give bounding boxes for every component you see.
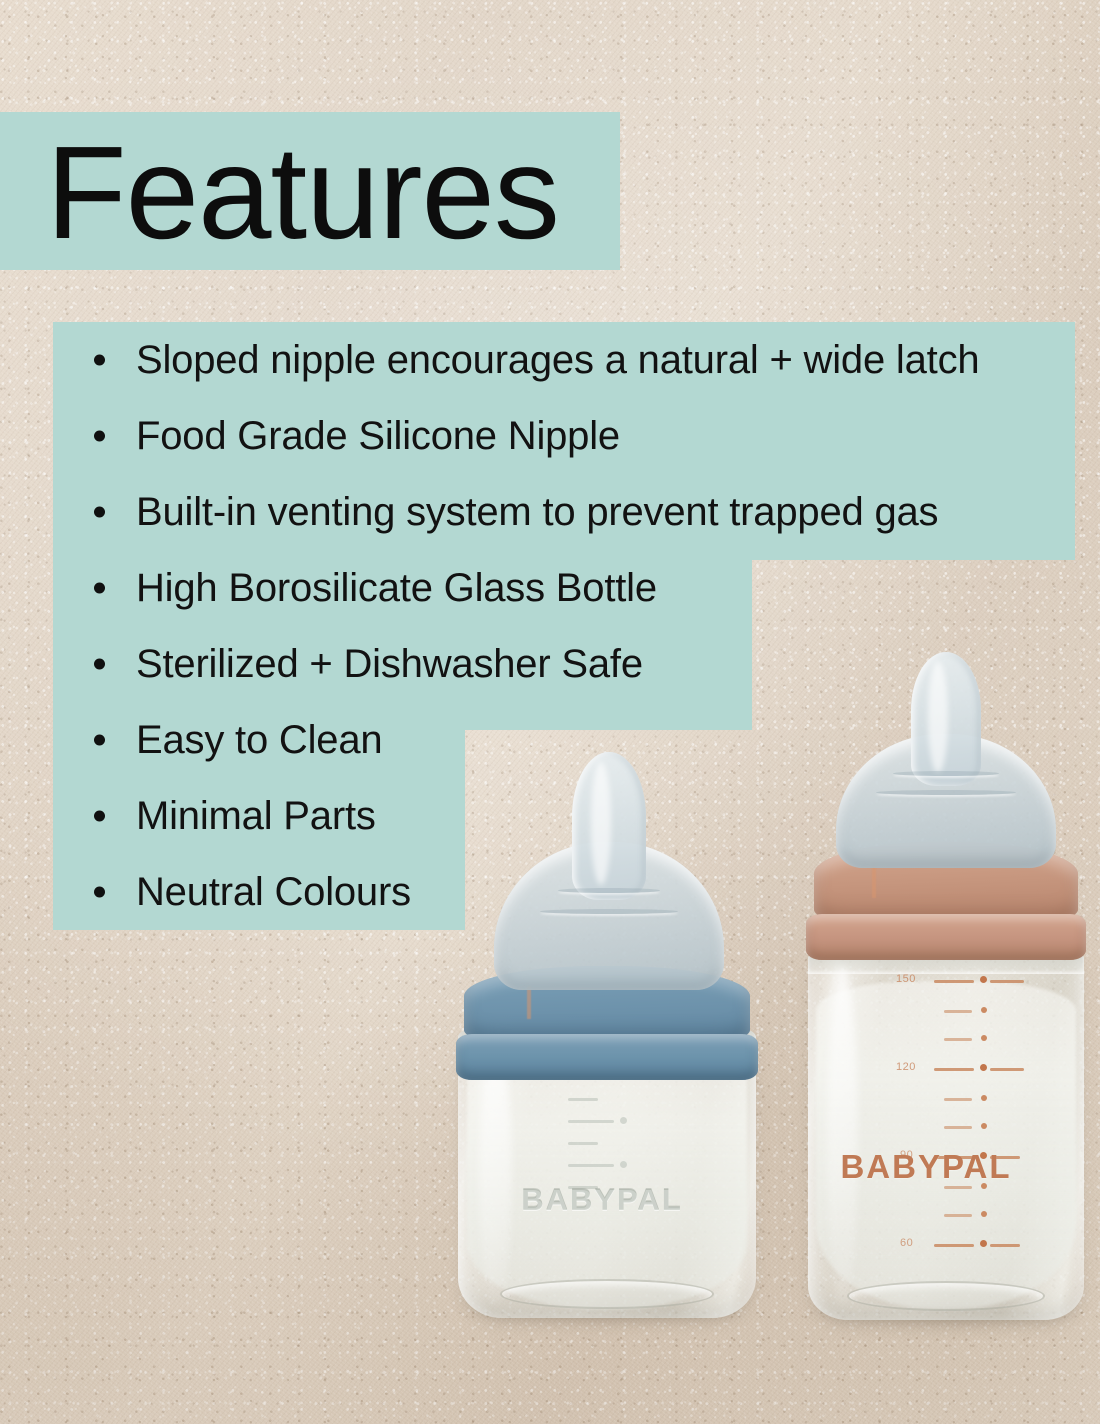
bullet-dot-icon — [94, 355, 105, 366]
list-item-label: Food Grade Silicone Nipple — [136, 413, 620, 459]
scale-label: 150 — [896, 973, 916, 985]
list-item: Food Grade Silicone Nipple — [53, 398, 1083, 474]
blue-bottle-base-ring — [500, 1279, 715, 1309]
blue-collar-seam-mark — [527, 986, 531, 1019]
list-item-label: High Borosilicate Glass Bottle — [136, 565, 657, 611]
bullet-dot-icon — [94, 735, 105, 746]
bullet-dot-icon — [94, 431, 105, 442]
tan-bottle-brand-logo: BABYPAL — [826, 1150, 1026, 1183]
tan-bottle-measurement-scale: 150 120 90 60 — [898, 976, 1048, 1262]
list-item: Sterilized + Dishwasher Safe — [53, 626, 1083, 702]
bullet-dot-icon — [94, 887, 105, 898]
list-item-label: Sloped nipple encourages a natural + wid… — [136, 337, 979, 383]
feature-list: Sloped nipple encourages a natural + wid… — [53, 322, 1083, 930]
bullet-dot-icon — [94, 659, 105, 670]
page-title: Features — [46, 118, 606, 268]
tan-bottle-base-ring — [847, 1281, 1046, 1311]
list-item: Sloped nipple encourages a natural + wid… — [53, 322, 1083, 398]
list-item-label: Sterilized + Dishwasher Safe — [136, 641, 643, 687]
scale-label: 60 — [900, 1237, 913, 1249]
scale-label: 120 — [896, 1061, 916, 1073]
list-item-label: Neutral Colours — [136, 869, 411, 915]
list-item-label: Minimal Parts — [136, 793, 376, 839]
bullet-dot-icon — [94, 583, 105, 594]
blue-bottle-collar-lower-ring — [456, 1034, 758, 1080]
bullet-dot-icon — [94, 507, 105, 518]
list-item: Minimal Parts — [53, 778, 1083, 854]
bullet-dot-icon — [94, 811, 105, 822]
list-item: Neutral Colours — [53, 854, 1083, 930]
list-item: High Borosilicate Glass Bottle — [53, 550, 1083, 626]
list-item-label: Built-in venting system to prevent trapp… — [136, 489, 938, 535]
blue-bottle-brand-logo: BABYPAL — [482, 1184, 722, 1215]
list-item: Easy to Clean — [53, 702, 1083, 778]
list-item-label: Easy to Clean — [136, 717, 382, 763]
list-item: Built-in venting system to prevent trapp… — [53, 474, 1083, 550]
